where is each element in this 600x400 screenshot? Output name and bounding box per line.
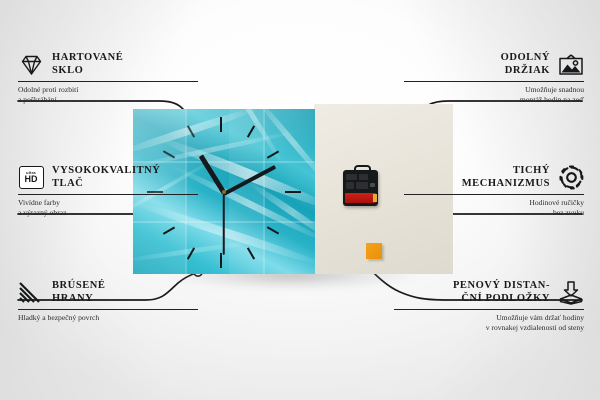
infographic-canvas: HARTOVANÉSKLO Odolné proti rozbitía pošk…	[0, 0, 600, 400]
feature-title: PENOVÝ DISTAN-ČNÍ PODLOŽKY	[453, 280, 550, 305]
battery-terminal	[373, 194, 377, 202]
picture-frame-icon	[558, 53, 584, 77]
feature-ground-edges[interactable]: BRÚSENÉHRANY Hladký a bezpečný povrch	[18, 280, 198, 323]
feature-description: Hodinové ručičkybez zvuku	[404, 198, 584, 218]
feature-description: Hladký a bezpečný povrch	[18, 313, 198, 323]
gear-icon	[558, 166, 584, 190]
ultra-hd-icon: ultra HD	[18, 166, 44, 190]
feature-description: Vivídne farbya výrazný obraz	[18, 198, 198, 218]
feature-durable-holder[interactable]: ODOLNÝDRŽIAK Umožňuje snadnoumontáž hodi…	[404, 52, 584, 105]
feature-rule	[404, 81, 584, 82]
foam-pad-arrow-icon	[558, 281, 584, 305]
feature-title: VYSOKOKVALITNÝTLAČ	[52, 165, 160, 190]
mechanism-battery	[345, 193, 376, 203]
hour-marker	[267, 226, 279, 234]
hour-marker	[220, 117, 222, 132]
feature-title: BRÚSENÉHRANY	[52, 280, 105, 305]
bevelled-edge-icon	[18, 281, 44, 305]
feature-rule	[394, 309, 584, 310]
feature-hardened-glass[interactable]: HARTOVANÉSKLO Odolné proti rozbitía pošk…	[18, 52, 198, 105]
second-hand	[223, 193, 225, 255]
feature-silent-mechanism[interactable]: TICHÝMECHANIZMUS Hodinové ručičkybez zvu…	[404, 165, 584, 218]
feature-rule	[404, 194, 584, 195]
feature-rule	[18, 194, 198, 195]
feature-high-quality-print[interactable]: ultra HD VYSOKOKVALITNÝTLAČ Vivídne farb…	[18, 165, 198, 218]
feature-description: Odolné proti rozbitía poškrábání	[18, 85, 198, 105]
clock-center-pin	[222, 190, 226, 194]
feature-rule	[18, 81, 198, 82]
feature-foam-spacers[interactable]: PENOVÝ DISTAN-ČNÍ PODLOŽKY Umožňuje vám …	[394, 280, 584, 333]
feature-description: Umožňuje snadnoumontáž hodin na zeď	[404, 85, 584, 105]
hour-marker	[220, 253, 222, 268]
diamond-icon	[18, 53, 44, 77]
ultra-hd-main-text: HD	[25, 175, 38, 184]
feature-title: TICHÝMECHANIZMUS	[462, 165, 550, 190]
foam-spacer-pad	[366, 243, 382, 259]
feature-rule	[18, 309, 198, 310]
clock-mechanism	[343, 170, 378, 206]
feature-description: Umožňuje vám držať hodinyv rovnakej vzdi…	[394, 313, 584, 333]
feature-title: ODOLNÝDRŽIAK	[501, 52, 550, 77]
feature-title: HARTOVANÉSKLO	[52, 52, 123, 77]
hour-marker	[285, 191, 301, 193]
